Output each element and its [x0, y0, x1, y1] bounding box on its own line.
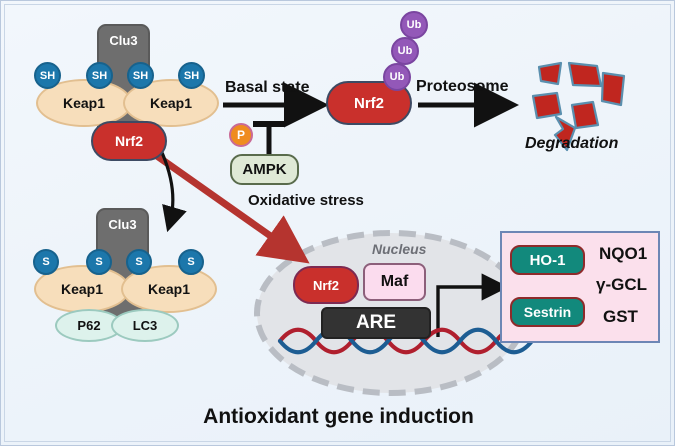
nrf2-nuclear-label: Nrf2 — [313, 278, 339, 293]
keap1-left-stress-label: Keap1 — [61, 281, 103, 297]
are-element: ARE — [321, 307, 431, 339]
ampk-label: AMPK — [242, 161, 286, 178]
phosphate-label: P — [237, 128, 245, 142]
oxidative-stress-label: Oxidative stress — [248, 192, 364, 209]
nrf2-bound-basal: Nrf2 — [91, 121, 167, 161]
basal-state-label: Basal state — [225, 79, 310, 97]
gene-product-ho1: HO-1 — [510, 245, 585, 275]
ubiquitin-1-label: Ub — [390, 71, 405, 83]
thiol-s-1-label: S — [42, 256, 49, 268]
thiol-sh-4: SH — [178, 62, 205, 89]
keap1-left-label: Keap1 — [63, 95, 105, 111]
pathway-diagram: Clu3 Keap1 Keap1 Nrf2 SH SH SH SH Basal … — [0, 0, 675, 446]
thiol-sh-4-label: SH — [184, 70, 199, 82]
gene-product-nqo1: NQO1 — [599, 244, 647, 264]
lc3-label: LC3 — [133, 318, 158, 333]
ubiquitin-2-label: Ub — [398, 45, 413, 57]
thiol-s-2-label: S — [95, 256, 102, 268]
are-label: ARE — [356, 312, 396, 334]
thiol-s-4: S — [178, 249, 204, 275]
clu3-label: Clu3 — [109, 33, 137, 48]
nrf2-bound-label: Nrf2 — [115, 133, 143, 149]
thiol-sh-3: SH — [127, 62, 154, 89]
thiol-sh-1-label: SH — [40, 70, 55, 82]
nrf2-free-label: Nrf2 — [354, 95, 384, 112]
thiol-sh-1: SH — [34, 62, 61, 89]
gene-product-gst: GST — [603, 307, 638, 327]
clu3-stress-label: Clu3 — [108, 217, 136, 232]
ubiquitin-3-label: Ub — [407, 19, 422, 31]
gene-product-gamma-gcl: γ-GCL — [596, 275, 647, 295]
figure-title: Antioxidant gene induction — [1, 405, 675, 429]
ampk-node: AMPK — [230, 154, 299, 185]
thiol-s-3-label: S — [135, 256, 142, 268]
nucleus-label: Nucleus — [372, 241, 426, 257]
nrf2-nuclear: Nrf2 — [293, 266, 359, 304]
thiol-s-1: S — [33, 249, 59, 275]
keap1-right-label: Keap1 — [150, 95, 192, 111]
thiol-s-3: S — [126, 249, 152, 275]
thiol-sh-2-label: SH — [92, 70, 107, 82]
maf-partner: Maf — [363, 263, 426, 301]
p62-label: P62 — [77, 318, 100, 333]
thiol-s-2: S — [86, 249, 112, 275]
ubiquitin-2: Ub — [391, 37, 419, 65]
thiol-sh-3-label: SH — [133, 70, 148, 82]
thiol-sh-2: SH — [86, 62, 113, 89]
gene-product-sestrin-label: Sestrin — [524, 304, 571, 320]
maf-label: Maf — [381, 273, 409, 291]
ubiquitin-3: Ub — [400, 11, 428, 39]
proteosome-label: Proteosome — [416, 78, 508, 96]
thiol-s-4-label: S — [187, 256, 194, 268]
lc3-adaptor: LC3 — [111, 309, 179, 342]
gene-product-sestrin: Sestrin — [510, 297, 585, 327]
degradation-label: Degradation — [525, 135, 618, 153]
gene-product-ho1-label: HO-1 — [530, 252, 566, 269]
keap1-right-stress-label: Keap1 — [148, 281, 190, 297]
phosphate-group-icon: P — [229, 123, 253, 147]
ubiquitin-1: Ub — [383, 63, 411, 91]
